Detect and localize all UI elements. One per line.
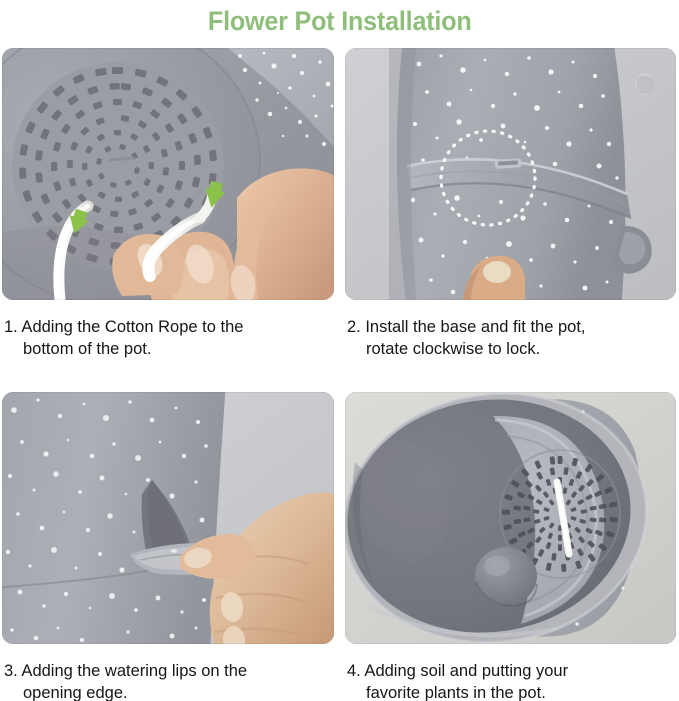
- page-title-bar: Flower Pot Installation: [0, 0, 679, 42]
- step-2-caption: 2. Install the base and fit the pot, rot…: [345, 316, 676, 360]
- step-3-photo: [2, 392, 334, 644]
- step-1-caption-line2: bottom of the pot.: [4, 338, 334, 360]
- step-4-caption: 4. Adding soil and putting your favorite…: [345, 660, 676, 701]
- step-3-caption-line2: opening edge.: [4, 682, 334, 701]
- step-3-caption: 3. Adding the watering lips on the openi…: [2, 660, 334, 701]
- step-3-caption-line1: 3. Adding the watering lips on the: [4, 662, 247, 680]
- step-card-2: 2. Install the base and fit the pot, rot…: [345, 48, 676, 348]
- float-knob: [475, 547, 537, 605]
- step-card-3: 3. Adding the watering lips on the openi…: [2, 392, 334, 692]
- pot-base-illustration: [345, 48, 676, 300]
- step-4-caption-line2: favorite plants in the pot.: [347, 682, 676, 701]
- infographic-page: Flower Pot Installation: [0, 0, 679, 701]
- step-2-caption-line1: 2. Install the base and fit the pot,: [347, 318, 586, 336]
- step-card-4: 4. Adding soil and putting your favorite…: [345, 392, 676, 692]
- pot-interior-illustration: [345, 392, 676, 644]
- step-card-1: 1. Adding the Cotton Rope to the bottom …: [2, 48, 334, 348]
- step-1-caption: 1. Adding the Cotton Rope to the bottom …: [2, 316, 334, 360]
- step-1-photo: [2, 48, 334, 300]
- step-2-caption-line2: rotate clockwise to lock.: [347, 338, 676, 360]
- step-4-photo: [345, 392, 676, 644]
- steps-grid: 1. Adding the Cotton Rope to the bottom …: [0, 44, 679, 701]
- step-4-caption-line1: 4. Adding soil and putting your: [347, 662, 568, 680]
- step-2-photo: [345, 48, 676, 300]
- step-1-caption-line1: 1. Adding the Cotton Rope to the: [4, 318, 243, 336]
- watering-lip-illustration: [2, 392, 334, 644]
- pot-bottom-illustration: [2, 48, 334, 300]
- page-title: Flower Pot Installation: [208, 6, 472, 37]
